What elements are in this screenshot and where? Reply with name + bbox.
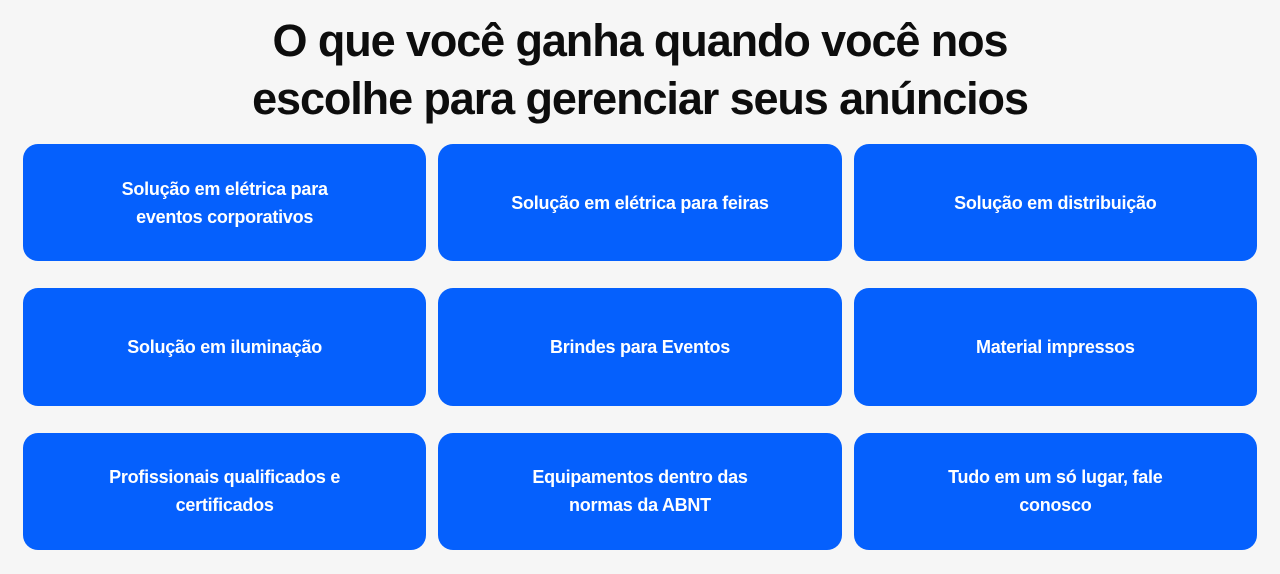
benefit-card-label: Tudo em um só lugar, fale conosco <box>948 463 1162 519</box>
benefit-card-label: Brindes para Eventos <box>550 333 730 361</box>
benefit-card-label: Equipamentos dentro das normas da ABNT <box>532 463 747 519</box>
benefit-card-material-impressos[interactable]: Material impressos <box>854 288 1257 405</box>
benefit-card-tudo-em-um-so-lugar[interactable]: Tudo em um só lugar, fale conosco <box>854 433 1257 550</box>
benefit-card-solucao-distribuicao[interactable]: Solução em distribuição <box>854 144 1257 261</box>
benefits-section: O que você ganha quando você nos escolhe… <box>0 0 1280 574</box>
page-title: O que você ganha quando você nos escolhe… <box>252 12 1028 128</box>
benefit-card-solucao-iluminacao[interactable]: Solução em iluminação <box>23 288 426 405</box>
benefit-card-equipamentos-normas-abnt[interactable]: Equipamentos dentro das normas da ABNT <box>438 433 841 550</box>
benefit-card-brindes-eventos[interactable]: Brindes para Eventos <box>438 288 841 405</box>
benefit-card-label: Solução em elétrica para feiras <box>511 189 768 217</box>
benefit-card-label: Solução em elétrica para eventos corpora… <box>122 175 328 231</box>
benefit-card-label: Solução em iluminação <box>127 333 322 361</box>
benefit-card-label: Solução em distribuição <box>954 189 1156 217</box>
benefit-card-solucao-eletrica-eventos-corporativos[interactable]: Solução em elétrica para eventos corpora… <box>23 144 426 261</box>
benefit-card-profissionais-qualificados[interactable]: Profissionais qualificados e certificado… <box>23 433 426 550</box>
benefit-card-label: Material impressos <box>976 333 1135 361</box>
benefit-card-grid: Solução em elétrica para eventos corpora… <box>23 144 1257 574</box>
benefit-card-label: Profissionais qualificados e certificado… <box>109 463 340 519</box>
benefit-card-solucao-eletrica-feiras[interactable]: Solução em elétrica para feiras <box>438 144 841 261</box>
heading-container: O que você ganha quando você nos escolhe… <box>23 0 1257 144</box>
